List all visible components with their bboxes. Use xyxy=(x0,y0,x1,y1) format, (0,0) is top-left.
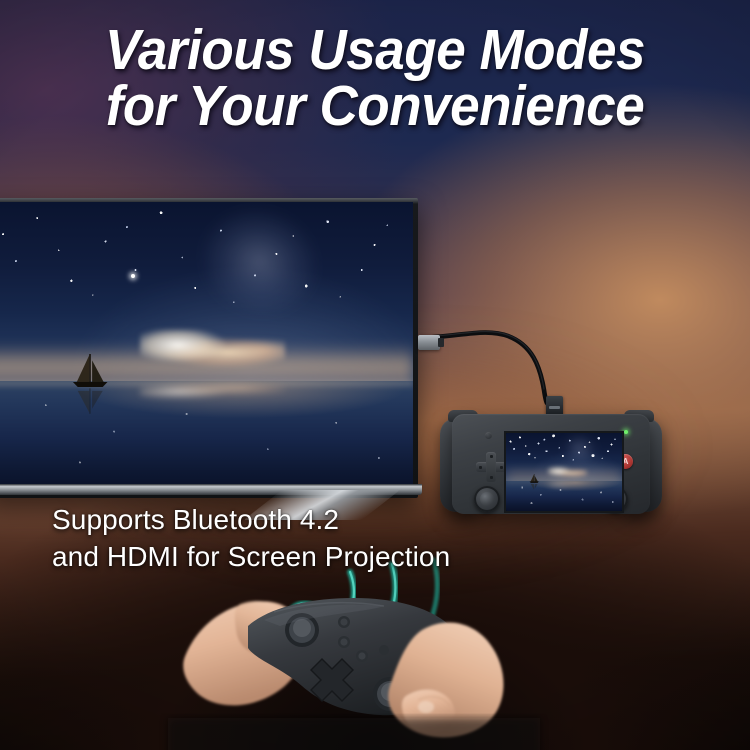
bright-star xyxy=(131,274,135,278)
handheld-body: X Y A B xyxy=(452,414,650,514)
television xyxy=(0,198,418,498)
handheld-screen xyxy=(504,431,624,513)
handheld-game-console: X Y A B xyxy=(438,408,664,520)
dpad-left-marker xyxy=(479,466,482,469)
handheld-menu-button-left[interactable] xyxy=(485,432,492,439)
water-surface xyxy=(0,381,413,491)
dpad-down-marker xyxy=(490,476,493,479)
headline-line-2: for Your Convenience xyxy=(26,78,724,134)
tv-screen xyxy=(0,202,413,491)
product-marketing-poster: X Y A B xyxy=(0,0,750,750)
hands-holding-controller xyxy=(178,568,530,750)
hdmi-plug-tv-side xyxy=(418,335,440,350)
star-reflections xyxy=(0,381,413,491)
glowing-cloud-handheld xyxy=(548,467,587,477)
glowing-cloud xyxy=(140,329,285,367)
subtitle-line-1: Supports Bluetooth 4.2 xyxy=(52,504,339,535)
water-surface-handheld xyxy=(506,481,622,511)
dpad-right-marker xyxy=(500,466,503,469)
page-title: Various Usage Modes for Your Convenience xyxy=(26,22,724,135)
dpad-up-marker xyxy=(490,455,493,458)
headline-line-1: Various Usage Modes xyxy=(105,18,645,82)
sailboat-handheld xyxy=(529,474,539,491)
subtitle-line-2: and HDMI for Screen Projection xyxy=(52,539,450,576)
dpad[interactable] xyxy=(476,452,506,482)
night-sky-scene-handheld xyxy=(506,433,622,511)
sailboat xyxy=(71,354,109,418)
subtitle-text: Supports Bluetooth 4.2 and HDMI for Scre… xyxy=(52,502,450,576)
star-reflections-handheld xyxy=(506,481,622,511)
analog-stick-left[interactable] xyxy=(474,486,500,512)
power-led-indicator xyxy=(624,430,628,434)
night-sky-scene-tv xyxy=(0,202,413,491)
